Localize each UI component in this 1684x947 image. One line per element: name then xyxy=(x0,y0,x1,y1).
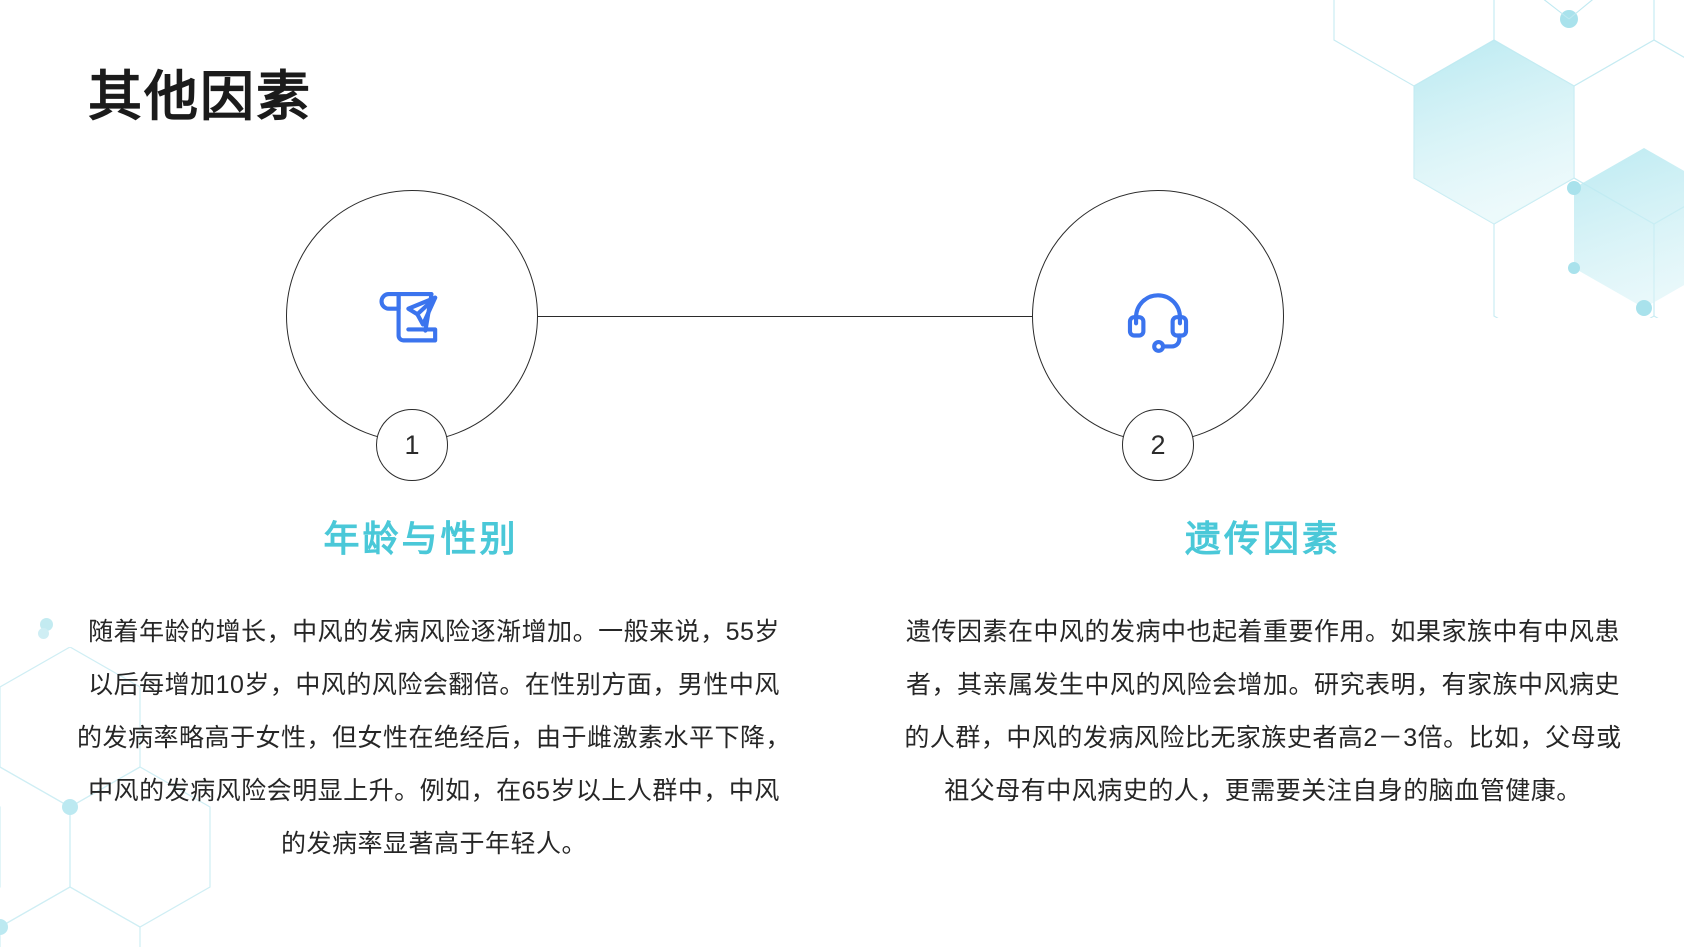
column-1-heading: 年龄与性别 xyxy=(30,510,812,562)
node-1-number: 1 xyxy=(376,409,448,481)
column-genetics: 遗传因素 遗传因素在中风的发病中也起着重要作用。如果家族中有中风患者，其亲属发生… xyxy=(842,510,1684,871)
node-1-circle xyxy=(286,190,538,442)
scroll-paper-plane-icon xyxy=(373,277,451,355)
node-2-circle xyxy=(1032,190,1284,442)
diagram-node-1[interactable]: 1 xyxy=(286,190,538,442)
column-1-body: 随着年龄的增长，中风的发病风险逐渐增加。一般来说，55岁以后每增加10岁，中风的… xyxy=(30,606,812,871)
column-1-text: 随着年龄的增长，中风的发病风险逐渐增加。一般来说，55岁以后每增加10岁，中风的… xyxy=(77,618,791,858)
page-title: 其他因素 xyxy=(88,66,312,128)
node-diagram: 1 2 xyxy=(0,190,1684,480)
diagram-node-2[interactable]: 2 xyxy=(1032,190,1284,442)
column-age-gender: 年龄与性别 随着年龄的增长，中风的发病风险逐渐增加。一般来说，55岁以后每增加1… xyxy=(0,510,842,871)
slide-root: 其他因素 1 xyxy=(0,0,1684,947)
node-2-number: 2 xyxy=(1122,409,1194,481)
headset-icon xyxy=(1119,277,1197,355)
column-2-heading: 遗传因素 xyxy=(872,510,1654,562)
column-2-text: 遗传因素在中风的发病中也起着重要作用。如果家族中有中风患者，其亲属发生中风的风险… xyxy=(904,618,1621,805)
node-connector-line xyxy=(538,316,1038,317)
column-2-body: 遗传因素在中风的发病中也起着重要作用。如果家族中有中风患者，其亲属发生中风的风险… xyxy=(872,606,1654,818)
bullet-dot-icon xyxy=(38,628,49,639)
content-columns: 年龄与性别 随着年龄的增长，中风的发病风险逐渐增加。一般来说，55岁以后每增加1… xyxy=(0,510,1684,871)
